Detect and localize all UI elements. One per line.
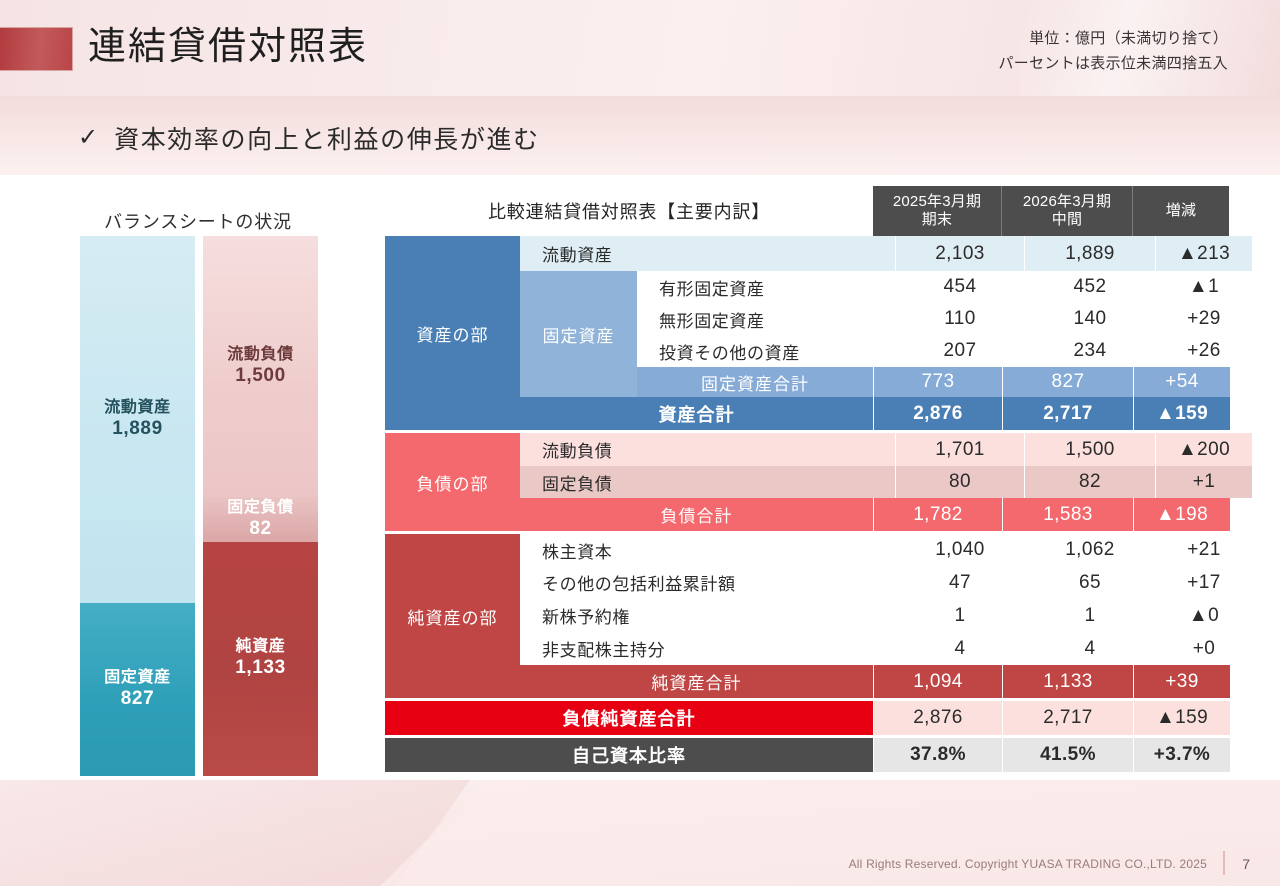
row-label: 有形固定資産	[637, 271, 895, 303]
table-row: 非支配株主持分 4 4 +0	[520, 632, 1252, 665]
row-value-change: ▲159	[1133, 701, 1230, 735]
column-header-line2: 期末	[922, 211, 952, 229]
row-value-2025: 4	[895, 632, 1024, 665]
row-value-2025: 1,094	[873, 665, 1002, 698]
row-value-change: ▲200	[1155, 433, 1252, 466]
row-value-2025: 1,040	[895, 534, 1024, 566]
row-label: 固定負債	[520, 466, 895, 498]
group-label-fixed-assets: 固定資産	[520, 271, 637, 397]
row-label: その他の包括利益累計額	[520, 566, 895, 599]
slide: 連結貸借対照表 単位：億円（未満切り捨て） パーセントは表示位未満四捨五入 ✓ …	[0, 0, 1280, 886]
row-label: 資産合計	[520, 397, 873, 430]
row-value-change: ▲198	[1133, 498, 1230, 531]
footer-divider	[1223, 851, 1225, 875]
row-label: 自己資本比率	[385, 738, 873, 772]
unit-note-line2: パーセントは表示位未満四捨五入	[808, 51, 1228, 76]
group-label-net-assets: 純資産の部	[385, 534, 520, 698]
row-value-change: +26	[1155, 335, 1252, 367]
balance-sheet-chart: 流動資産 1,889 固定資産 827 流動負債 1,500 固定負債 82 純…	[80, 236, 318, 776]
table-row: 流動負債 1,701 1,500 ▲200	[520, 433, 1252, 466]
row-value-change: +0	[1155, 632, 1252, 665]
row-value-2025: 773	[873, 367, 1002, 397]
chart-segment-label: 固定負債	[227, 499, 293, 518]
row-value-2026: 41.5%	[1002, 738, 1133, 772]
table-row: 固定負債 80 82 +1	[520, 466, 1252, 498]
row-value-2026: 1,583	[1002, 498, 1133, 531]
group-label-liabilities: 負債の部	[385, 433, 520, 531]
row-value-2025: 1,782	[873, 498, 1002, 531]
table-row: 新株予約権 1 1 ▲0	[520, 599, 1252, 632]
chart-segment-current-liabilities: 流動負債 1,500	[203, 236, 318, 497]
row-label: 流動資産	[520, 236, 895, 271]
liabilities-section: 負債の部 流動負債 1,701 1,500 ▲200 固定負債 80 82 +1…	[385, 433, 1227, 531]
row-value-change: +3.7%	[1133, 738, 1230, 772]
row-value-2025: 37.8%	[873, 738, 1002, 772]
chart-segment-fixed-assets: 固定資産 827	[80, 603, 195, 776]
subtitle-text: 資本効率の向上と利益の伸長が進む	[114, 120, 540, 156]
row-value-change: +39	[1133, 665, 1230, 698]
table-caption: 比較連結貸借対照表【主要内訳】	[385, 186, 873, 236]
row-value-change: ▲213	[1155, 236, 1252, 271]
assets-section: 資産の部 流動資産 2,103 1,889 ▲213 固定資産 有形固定資産 4…	[385, 236, 1227, 430]
table-row-total: 純資産合計 1,094 1,133 +39	[520, 665, 1252, 698]
row-value-2026: 827	[1002, 367, 1133, 397]
row-value-change: +29	[1155, 303, 1252, 335]
chart-segment-value: 82	[249, 518, 271, 540]
row-value-change: +17	[1155, 566, 1252, 599]
column-header-line1: 2026年3月期	[1023, 193, 1111, 211]
chart-segment-value: 1,889	[112, 418, 163, 440]
row-value-2026: 234	[1024, 335, 1155, 367]
chart-segment-label: 流動負債	[227, 346, 293, 365]
subtitle: ✓ 資本効率の向上と利益の伸長が進む	[78, 120, 540, 156]
row-value-2025: 47	[895, 566, 1024, 599]
row-label: 株主資本	[520, 534, 895, 566]
table-row-grand-total: 負債純資産合計 2,876 2,717 ▲159	[385, 701, 1227, 735]
table-row: 無形固定資産 110 140 +29	[637, 303, 1252, 335]
row-value-2025: 80	[895, 466, 1024, 498]
table-row-total: 負債合計 1,782 1,583 ▲198	[520, 498, 1252, 531]
table-row: 株主資本 1,040 1,062 +21	[520, 534, 1252, 566]
row-value-2025: 2,876	[873, 701, 1002, 735]
row-value-2026: 1	[1024, 599, 1155, 632]
copyright-text: All Rights Reserved. Copyright YUASA TRA…	[849, 857, 1207, 871]
row-label: 非支配株主持分	[520, 632, 895, 665]
chart-segment-label: 純資産	[236, 638, 286, 657]
row-value-2026: 1,889	[1024, 236, 1155, 271]
table-row: 流動資産 2,103 1,889 ▲213	[520, 236, 1252, 271]
chart-segment-current-assets: 流動資産 1,889	[80, 236, 195, 603]
row-label: 無形固定資産	[637, 303, 895, 335]
unit-note-line1: 単位：億円（未満切り捨て）	[808, 26, 1228, 51]
row-value-2026: 2,717	[1002, 397, 1133, 430]
page-number: 7	[1242, 856, 1250, 872]
row-value-change: +1	[1155, 466, 1252, 498]
table-row: 有形固定資産 454 452 ▲1	[637, 271, 1252, 303]
row-value-2026: 2,717	[1002, 701, 1133, 735]
chart-title: バランスシートの状況	[78, 208, 318, 234]
row-value-change: +54	[1133, 367, 1230, 397]
net-assets-section: 純資産の部 株主資本 1,040 1,062 +21 その他の包括利益累計額 4…	[385, 534, 1227, 698]
row-value-change: +21	[1155, 534, 1252, 566]
row-value-2026: 65	[1024, 566, 1155, 599]
row-value-change: ▲159	[1133, 397, 1230, 430]
column-header-line2: 中間	[1052, 211, 1082, 229]
chart-bar-liabilities-equity: 流動負債 1,500 固定負債 82 純資産 1,133	[203, 236, 318, 776]
chart-segment-label: 流動資産	[104, 399, 170, 418]
table-row-equity-ratio: 自己資本比率 37.8% 41.5% +3.7%	[385, 738, 1227, 772]
chart-segment-net-assets: 純資産 1,133	[203, 542, 318, 776]
group-label-assets: 資産の部	[385, 236, 520, 430]
table-row: 投資その他の資産 207 234 +26	[637, 335, 1252, 367]
row-label: 純資産合計	[520, 665, 873, 698]
row-value-2026: 4	[1024, 632, 1155, 665]
chart-segment-value: 1,500	[235, 365, 286, 387]
column-header-line1: 増減	[1166, 202, 1196, 220]
row-value-2025: 2,876	[873, 397, 1002, 430]
row-value-2025: 2,103	[895, 236, 1024, 271]
chart-segment-value: 827	[121, 688, 155, 710]
row-value-2025: 1	[895, 599, 1024, 632]
row-value-2026: 82	[1024, 466, 1155, 498]
row-value-2026: 1,500	[1024, 433, 1155, 466]
chart-bar-assets: 流動資産 1,889 固定資産 827	[80, 236, 195, 776]
column-header-change: 増減	[1132, 186, 1229, 236]
row-value-2026: 1,062	[1024, 534, 1155, 566]
column-header-2025: 2025年3月期 期末	[873, 186, 1001, 236]
table-row: その他の包括利益累計額 47 65 +17	[520, 566, 1252, 599]
row-label: 流動負債	[520, 433, 895, 466]
row-value-2026: 452	[1024, 271, 1155, 303]
column-header-line1: 2025年3月期	[893, 193, 981, 211]
column-header-2026: 2026年3月期 中間	[1001, 186, 1132, 236]
unit-note: 単位：億円（未満切り捨て） パーセントは表示位未満四捨五入	[808, 26, 1228, 76]
row-value-2025: 1,701	[895, 433, 1024, 466]
row-value-2025: 110	[895, 303, 1024, 335]
title-accent-block	[0, 27, 73, 71]
chart-segment-value: 1,133	[235, 657, 286, 679]
row-label: 負債合計	[520, 498, 873, 531]
row-label: 負債純資産合計	[385, 701, 873, 735]
page-title: 連結貸借対照表	[88, 23, 368, 71]
row-value-change: ▲0	[1155, 599, 1252, 632]
row-label: 投資その他の資産	[637, 335, 895, 367]
balance-sheet-table: 比較連結貸借対照表【主要内訳】 2025年3月期 期末 2026年3月期 中間 …	[385, 186, 1227, 772]
table-row-total: 資産合計 2,876 2,717 ▲159	[520, 397, 1252, 430]
chart-segment-label: 固定資産	[104, 669, 170, 688]
row-value-2026: 1,133	[1002, 665, 1133, 698]
row-value-2025: 207	[895, 335, 1024, 367]
chart-segment-fixed-liabilities: 固定負債 82	[203, 497, 318, 542]
row-label: 新株予約権	[520, 599, 895, 632]
row-value-2025: 454	[895, 271, 1024, 303]
row-label: 固定資産合計	[637, 367, 873, 397]
check-icon: ✓	[78, 126, 98, 150]
row-value-2026: 140	[1024, 303, 1155, 335]
table-row-total: 固定資産合計 773 827 +54	[637, 367, 1252, 397]
row-value-change: ▲1	[1155, 271, 1252, 303]
table-header-row: 比較連結貸借対照表【主要内訳】 2025年3月期 期末 2026年3月期 中間 …	[385, 186, 1227, 236]
